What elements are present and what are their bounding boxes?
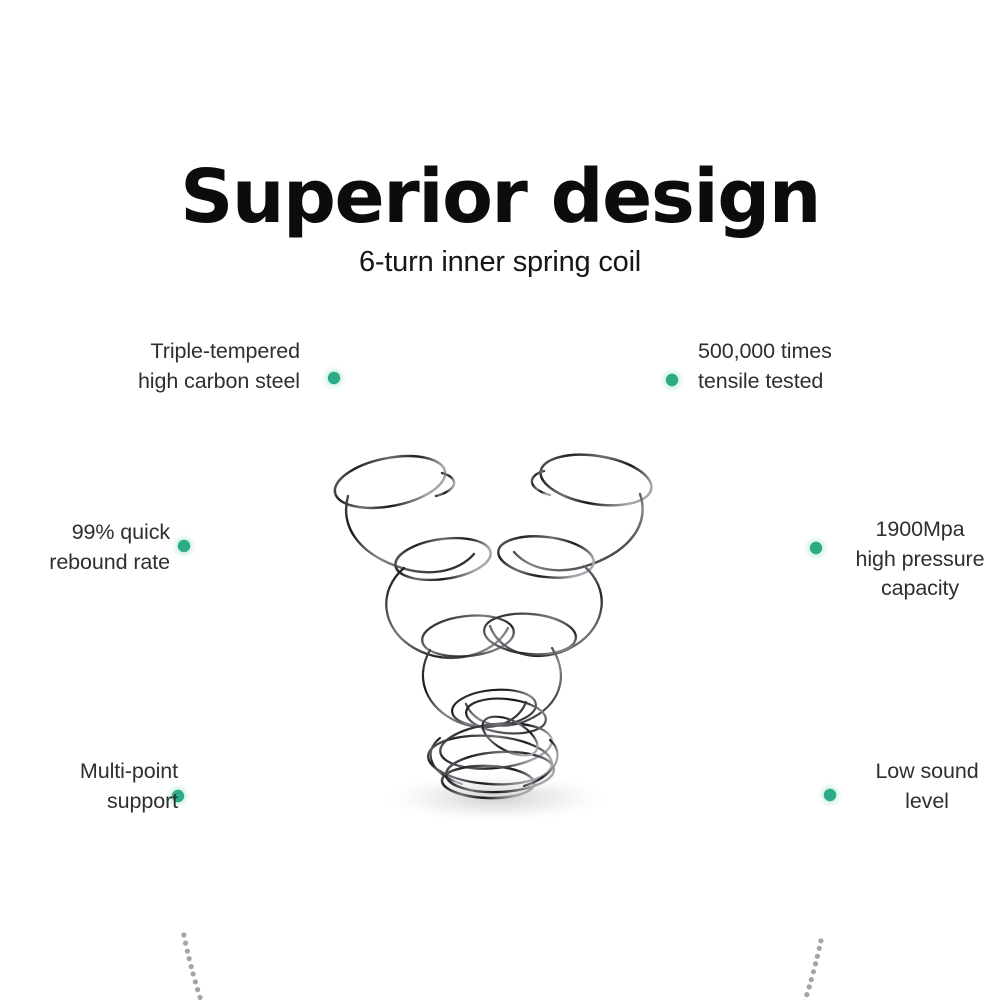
spring-coil-graphic <box>318 440 688 830</box>
spring-turn-mid-right <box>482 566 601 658</box>
marker-core-dot <box>810 542 822 554</box>
feature-label-low-sound-level: Low sound level <box>857 757 997 816</box>
arc-dot-path <box>181 932 823 1000</box>
feature-marker-tensile-tested[interactable] <box>659 367 685 393</box>
arc-dot <box>195 987 200 992</box>
arc-dot <box>181 932 186 937</box>
marker-core-dot <box>328 372 340 384</box>
marker-core-dot <box>824 789 836 801</box>
arc-dot <box>189 964 194 969</box>
infographic-canvas: Superior design 6-turn inner spring coil <box>0 0 1000 1000</box>
feature-label-high-pressure-capacity: 1900Mpa high pressure capacity <box>840 515 1000 604</box>
arc-dot <box>817 946 822 951</box>
spring-turn-mid-left <box>386 568 516 661</box>
arc-dot <box>183 941 188 946</box>
feature-label-tensile-tested: 500,000 times tensile tested <box>698 337 948 396</box>
feature-marker-quick-rebound-rate[interactable] <box>171 533 197 559</box>
arc-dot <box>804 992 809 997</box>
arc-dot <box>811 969 816 974</box>
spring-turn-upper-right <box>496 448 655 583</box>
feature-label-multi-point-support: Multi-point support <box>0 757 178 816</box>
arc-dot <box>193 979 198 984</box>
feature-marker-low-sound-level[interactable] <box>817 782 843 808</box>
arc-dot <box>818 938 823 943</box>
marker-core-dot <box>178 540 190 552</box>
arc-dot <box>187 956 192 961</box>
feature-label-quick-rebound-rate: 99% quick rebound rate <box>0 518 170 577</box>
arc-dot <box>197 995 202 1000</box>
arc-dot <box>807 984 812 989</box>
feature-label-triple-tempered-high-carbon-steel: Triple-tempered high carbon steel <box>40 337 300 396</box>
spring-turn-upper-left <box>330 448 493 586</box>
feature-marker-high-pressure-capacity[interactable] <box>803 535 829 561</box>
marker-core-dot <box>666 374 678 386</box>
feature-marker-triple-tempered-high-carbon-steel[interactable] <box>321 365 347 391</box>
arc-dot <box>813 961 818 966</box>
arc-dot <box>815 954 820 959</box>
arc-dot <box>191 971 196 976</box>
arc-dot <box>185 949 190 954</box>
arc-dot <box>809 977 814 982</box>
